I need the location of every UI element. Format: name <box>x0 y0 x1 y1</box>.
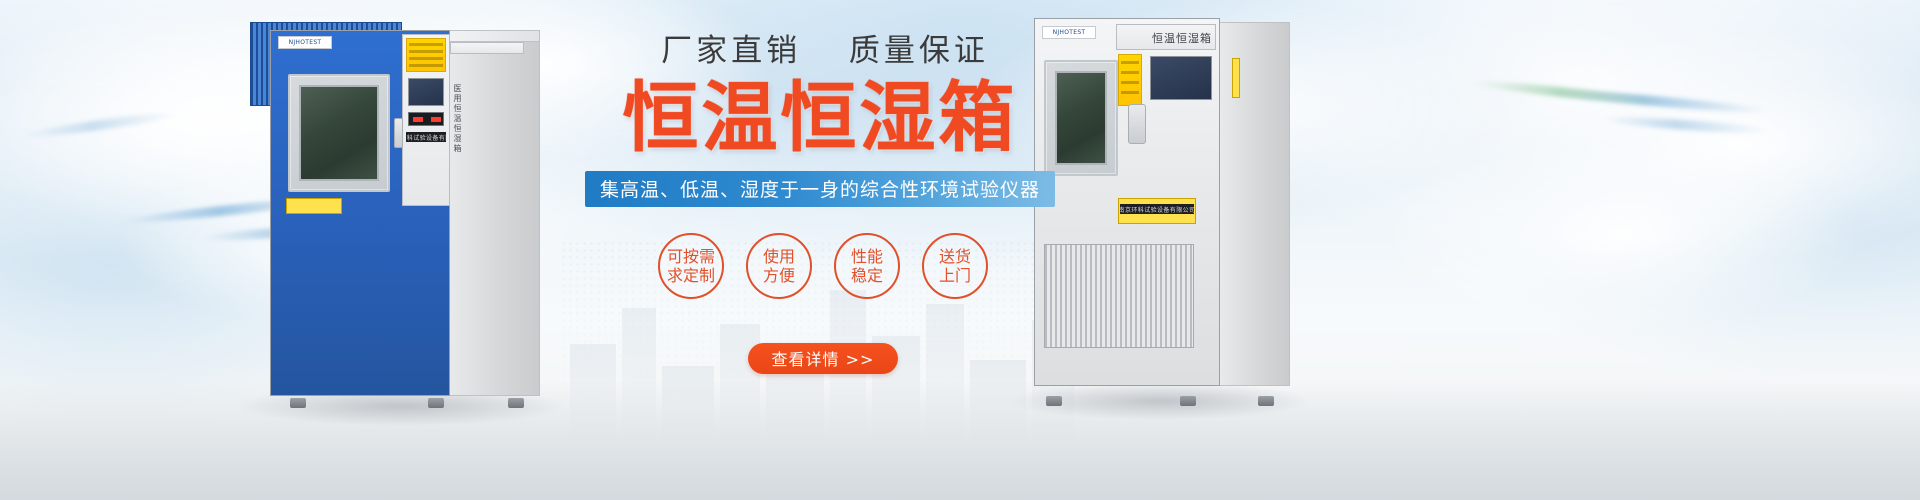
cabinet-foot <box>508 398 524 408</box>
badge-line-1: 性能 <box>851 247 883 266</box>
cabinet-foot <box>1258 396 1274 406</box>
cabinet-foot <box>428 398 444 408</box>
chamber-door[interactable] <box>288 74 390 192</box>
feature-badge-stable[interactable]: 性能 稳定 <box>834 233 900 299</box>
feature-badge-delivery[interactable]: 送货 上门 <box>922 233 988 299</box>
badge-line-2: 上门 <box>939 266 971 285</box>
subtitle-text: 集高温、低温、湿度于一身的综合性环境试验仪器 <box>600 175 1040 202</box>
cabinet-side-panel <box>1218 22 1290 386</box>
badge-line-2: 稳定 <box>851 266 883 285</box>
accent-stripe <box>1232 58 1240 98</box>
cta-row: 查看详情 >> <box>560 343 1080 374</box>
door-handle[interactable] <box>1128 104 1146 144</box>
promo-banner: 医用恒温恒湿箱 南京环科试验设备有限公司 NJHOTEST <box>0 0 1920 500</box>
manufacturer-nameplate: 南京环科试验设备有限公司 <box>1120 204 1194 214</box>
promo-copy-block: 厂家直销 质量保证 恒温恒湿箱 集高温、低温、湿度于一身的综合性环境试验仪器 可… <box>560 36 1080 466</box>
page-title: 恒温恒湿箱 <box>560 79 1080 157</box>
door-handle[interactable] <box>394 118 403 148</box>
subtitle-bar: 集高温、低温、湿度于一身的综合性环境试验仪器 <box>585 171 1055 207</box>
digital-readout <box>408 112 444 126</box>
feature-badge-easy-use[interactable]: 使用 方便 <box>746 233 812 299</box>
product-title: 恒温恒湿箱 <box>1152 30 1212 46</box>
cabinet-foot <box>1180 396 1196 406</box>
warning-sticker <box>1118 54 1142 106</box>
badge-line-2: 方便 <box>763 266 795 285</box>
badge-line-2: 求定制 <box>667 266 715 285</box>
badge-line-1: 可按需 <box>667 247 715 266</box>
badge-line-1: 送货 <box>939 247 971 266</box>
controller-screen <box>1150 56 1212 100</box>
brand-logo: NJHOTEST <box>278 36 332 49</box>
view-details-button[interactable]: 查看详情 >> <box>748 343 899 374</box>
manufacturer-nameplate: 南京环科试验设备有限公司 <box>406 132 446 142</box>
feature-badge-custom[interactable]: 可按需 求定制 <box>658 233 724 299</box>
side-panel-label: 医用恒温恒湿箱 <box>452 84 463 154</box>
warning-sticker <box>406 38 446 72</box>
controller-screen <box>408 78 444 106</box>
eyebrow-tagline: 厂家直销 质量保证 <box>560 36 1080 67</box>
badge-line-1: 使用 <box>763 247 795 266</box>
side-instrument-panel <box>450 42 524 54</box>
feature-badge-list: 可按需 求定制 使用 方便 性能 稳定 送货 上门 <box>560 233 1080 299</box>
product-image-left: 医用恒温恒湿箱 南京环科试验设备有限公司 NJHOTEST <box>250 22 540 400</box>
door-window <box>299 85 379 181</box>
cabinet-side-top <box>446 30 540 42</box>
cabinet-foot <box>290 398 306 408</box>
caution-label <box>286 198 342 214</box>
eyebrow-right-text: 质量保证 <box>849 33 989 69</box>
eyebrow-left-text: 厂家直销 <box>661 33 801 69</box>
